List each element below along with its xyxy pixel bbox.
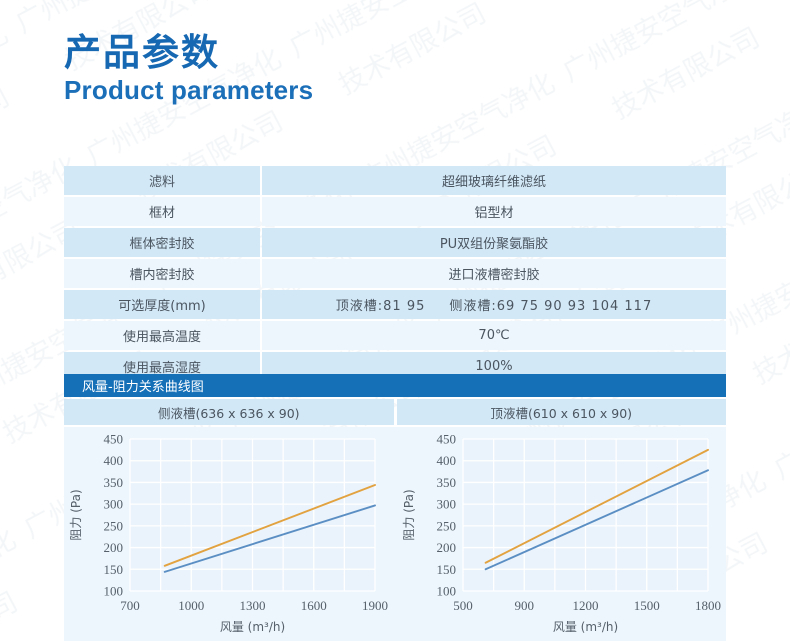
spec-row: 可选厚度(mm)顶液槽:81 95侧液槽:69 75 90 93 104 117	[64, 290, 726, 319]
spec-row: 框体密封胶PU双组份聚氨酯胶	[64, 228, 726, 257]
page-title-en: Product parameters	[64, 75, 313, 106]
x-tick-label: 500	[453, 598, 473, 613]
chart-block-title: 风量-阻力关系曲线图	[64, 374, 726, 397]
x-axis-label: 风量 (m³/h)	[552, 620, 617, 634]
x-tick-label: 900	[514, 598, 534, 613]
spec-row-key: 框体密封胶	[64, 228, 260, 257]
y-tick-label: 150	[436, 562, 456, 577]
chart-subtitle-row: 侧液槽(636 x 636 x 90) 顶液槽(610 x 610 x 90)	[64, 399, 726, 425]
chart-body: 1001502002503003504004507001000130016001…	[64, 427, 726, 641]
spec-row-value: 进口液槽密封胶	[262, 259, 726, 288]
y-tick-label: 150	[104, 562, 124, 577]
x-tick-label: 1000	[178, 598, 204, 613]
spec-row: 滤料超细玻璃纤维滤纸	[64, 166, 726, 195]
chart-side-tank: 1001502002503003504004507001000130016001…	[64, 427, 391, 641]
spec-table: 滤料超细玻璃纤维滤纸框材铝型材框体密封胶PU双组份聚氨酯胶槽内密封胶进口液槽密封…	[64, 166, 726, 383]
y-tick-label: 400	[436, 453, 456, 468]
y-tick-label: 450	[436, 432, 456, 447]
x-tick-label: 1900	[362, 598, 388, 613]
spec-row-key: 使用最高温度	[64, 321, 260, 350]
chart-subtitle-top-tank: 顶液槽(610 x 610 x 90)	[397, 399, 727, 425]
spec-row-value: PU双组份聚氨酯胶	[262, 228, 726, 257]
page-title: 产品参数 Product parameters	[64, 32, 313, 107]
spec-row-value: 铝型材	[262, 197, 726, 226]
spec-value-segment: 顶液槽:81 95	[336, 295, 426, 314]
page-title-cn: 产品参数	[64, 32, 313, 73]
x-tick-label: 700	[120, 598, 140, 613]
y-tick-label: 100	[436, 584, 456, 599]
spec-row-key: 滤料	[64, 166, 260, 195]
x-axis-label: 风量 (m³/h)	[220, 620, 285, 634]
airflow-resistance-chart-block: 风量-阻力关系曲线图 侧液槽(636 x 636 x 90) 顶液槽(610 x…	[64, 374, 726, 641]
y-tick-label: 350	[436, 475, 456, 490]
chart-pane-side-tank: 1001502002503003504004507001000130016001…	[64, 427, 394, 641]
y-axis-label: 阻力 (Pa)	[69, 489, 83, 540]
y-tick-label: 100	[104, 584, 124, 599]
spec-row-value: 超细玻璃纤维滤纸	[262, 166, 726, 195]
x-tick-label: 1200	[572, 598, 598, 613]
y-tick-label: 350	[104, 475, 124, 490]
spec-row: 槽内密封胶进口液槽密封胶	[64, 259, 726, 288]
chart-top-tank: 1001502002503003504004505009001200150018…	[397, 427, 724, 641]
y-tick-label: 450	[104, 432, 124, 447]
x-tick-label: 1800	[695, 598, 721, 613]
y-axis-label: 阻力 (Pa)	[402, 489, 416, 540]
chart-pane-top-tank: 1001502002503003504004505009001200150018…	[397, 427, 727, 641]
y-tick-label: 300	[436, 497, 456, 512]
spec-row: 框材铝型材	[64, 197, 726, 226]
spec-row: 使用最高温度70℃	[64, 321, 726, 350]
x-tick-label: 1600	[301, 598, 327, 613]
spec-value-segment: 侧液槽:69 75 90 93 104 117	[449, 295, 652, 314]
y-tick-label: 250	[436, 518, 456, 533]
spec-row-value: 70℃	[262, 321, 726, 350]
chart-subtitle-side-tank: 侧液槽(636 x 636 x 90)	[64, 399, 394, 425]
spec-row-value: 顶液槽:81 95侧液槽:69 75 90 93 104 117	[262, 290, 726, 319]
spec-row-key: 框材	[64, 197, 260, 226]
y-tick-label: 300	[104, 497, 124, 512]
y-tick-label: 250	[104, 518, 124, 533]
y-tick-label: 200	[104, 540, 124, 555]
spec-row-key: 槽内密封胶	[64, 259, 260, 288]
x-tick-label: 1500	[633, 598, 659, 613]
spec-row-key: 可选厚度(mm)	[64, 290, 260, 319]
y-tick-label: 400	[104, 453, 124, 468]
x-tick-label: 1300	[240, 598, 266, 613]
y-tick-label: 200	[436, 540, 456, 555]
